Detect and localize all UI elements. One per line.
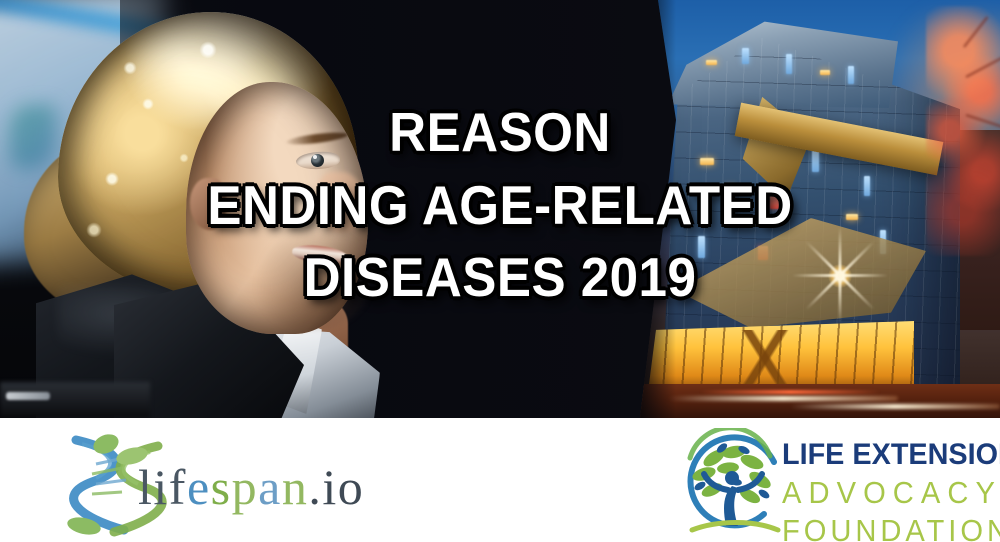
ear bbox=[190, 178, 226, 230]
lit-window bbox=[726, 186, 736, 192]
wordmark-part: p bbox=[232, 459, 259, 515]
leaf-line-3: FOUNDATION bbox=[782, 513, 970, 542]
leaf-logo[interactable]: LIFE EXTENSION ADVOCACY FOUNDATION bbox=[678, 424, 978, 542]
lobby-cross-bracing bbox=[700, 330, 830, 386]
light-trail bbox=[790, 404, 1000, 409]
wordmark-part: e bbox=[187, 459, 211, 515]
lit-window bbox=[812, 150, 819, 172]
desk-edge bbox=[0, 382, 150, 418]
desk-object bbox=[6, 392, 50, 400]
hero-image: REASON ENDING AGE-RELATED DISEASES 2019 bbox=[0, 0, 1000, 418]
pupil bbox=[311, 154, 324, 167]
stubble bbox=[254, 222, 376, 330]
nose bbox=[318, 172, 364, 232]
lifespan-logo[interactable]: lifespan.io bbox=[62, 434, 392, 538]
lit-window bbox=[864, 176, 870, 196]
video-thumbnail-card: REASON ENDING AGE-RELATED DISEASES 2019 bbox=[0, 0, 1000, 542]
light-trail bbox=[700, 390, 880, 394]
lens-flare-star bbox=[838, 274, 842, 278]
wordmark-part: lif bbox=[138, 459, 187, 515]
leaf-wordmark: LIFE EXTENSION ADVOCACY FOUNDATION bbox=[782, 438, 982, 542]
lit-window bbox=[770, 196, 779, 209]
lit-window bbox=[846, 214, 858, 220]
wordmark-part: .io bbox=[308, 459, 364, 515]
lifespan-wordmark: lifespan.io bbox=[138, 458, 364, 516]
tree-branch bbox=[963, 16, 988, 47]
wordmark-part: a bbox=[258, 459, 282, 515]
lit-window bbox=[786, 54, 792, 74]
sponsor-logo-bar: lifespan.io bbox=[0, 418, 1000, 542]
lit-window bbox=[742, 48, 749, 64]
speaker-portrait bbox=[18, 10, 438, 418]
lit-window bbox=[700, 158, 714, 165]
tree-branch bbox=[966, 55, 1000, 78]
autumn-tree bbox=[926, 6, 1000, 256]
lit-window bbox=[698, 236, 705, 258]
wordmark-part: n bbox=[282, 459, 309, 515]
light-trail bbox=[668, 396, 898, 401]
tree-person-circle-icon bbox=[678, 428, 786, 540]
lit-window bbox=[706, 60, 717, 65]
lit-window bbox=[848, 66, 854, 84]
tree-branch bbox=[966, 114, 1000, 129]
wordmark-part: s bbox=[211, 459, 232, 515]
lit-window bbox=[820, 70, 830, 75]
leaf-line-1: LIFE EXTENSION bbox=[782, 438, 974, 472]
leaf-line-2: ADVOCACY bbox=[782, 475, 970, 511]
